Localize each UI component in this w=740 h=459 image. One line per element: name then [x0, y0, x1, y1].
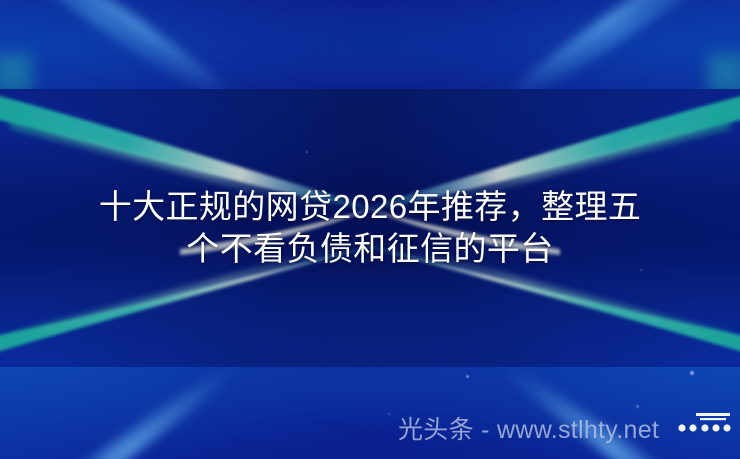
background-band-middle [0, 89, 740, 367]
sparkle [306, 151, 308, 153]
teal-swoosh-graphics [0, 89, 740, 367]
sparkle [636, 405, 639, 408]
teal-glint-top-left [0, 52, 34, 89]
light-streak-bottom-left-inner [38, 377, 219, 459]
sparkle [640, 269, 642, 271]
teal-glint-top-right [706, 52, 740, 89]
light-streak-top-right-inner [500, 0, 710, 89]
sparkle [200, 209, 202, 211]
light-streak-top-left-inner [30, 0, 240, 89]
sparkle [466, 375, 469, 378]
banner-image: 十大正规的网贷2026年推荐，整理五 个不看负债和征信的平台 光头条 - www… [0, 0, 740, 459]
sparkle [388, 413, 390, 415]
background-band-top [0, 0, 740, 89]
stlhty-dots-logo-icon [676, 409, 738, 441]
light-streak-top-right [498, 0, 740, 89]
light-streak-bottom-left [0, 367, 248, 459]
sparkle [690, 371, 694, 375]
background-band-bottom [0, 367, 740, 459]
watermark-text: 光头条 - www.stlhty.net [398, 415, 659, 445]
light-streak-top-left [0, 0, 242, 89]
